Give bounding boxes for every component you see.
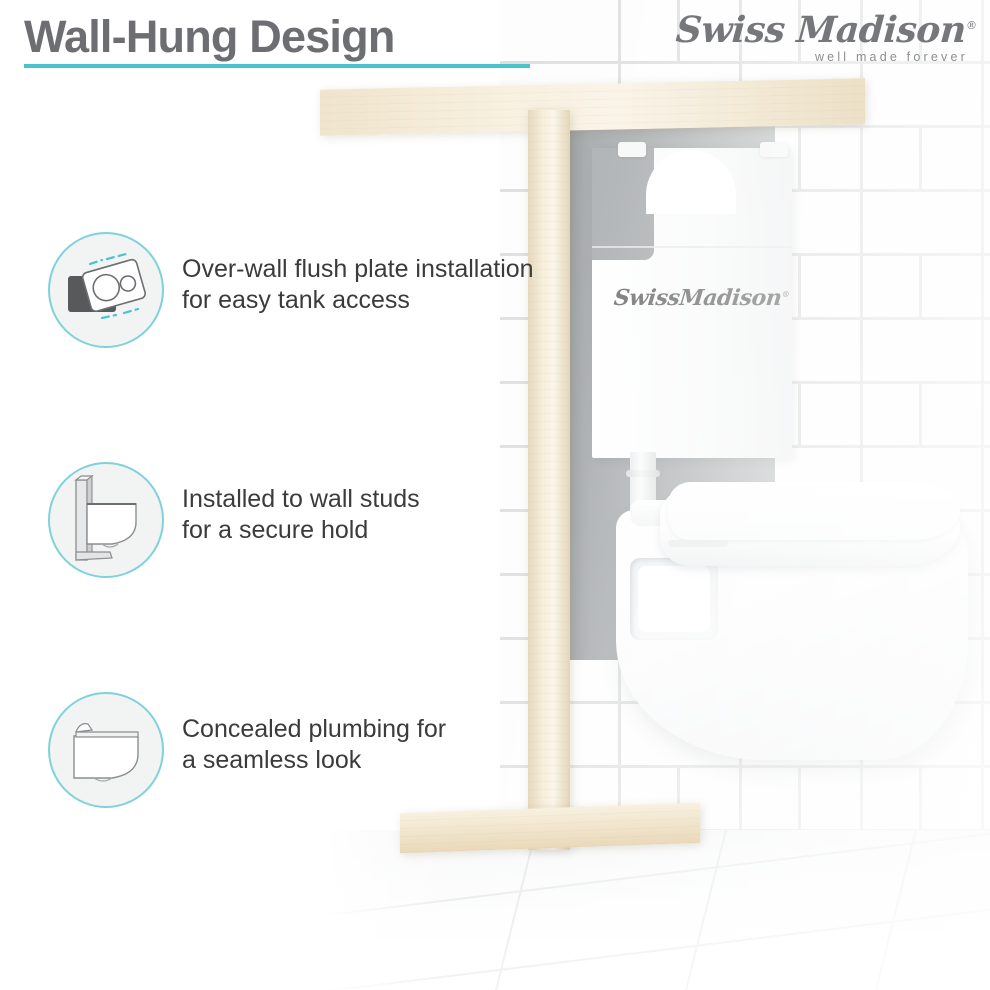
brand-name-text: Swiss Madison (675, 9, 968, 51)
feature-text-2: Installed to wall studs for a secure hol… (182, 484, 420, 545)
flush-plate-install-icon (48, 232, 164, 348)
brand-logo: Swiss Madison® well made forever (676, 12, 972, 74)
registered-trademark-icon: ® (966, 19, 977, 32)
brand-tagline: well made forever (676, 50, 968, 64)
concealed-plumbing-icon (48, 692, 164, 808)
wood-wall-stud (528, 110, 570, 850)
feature-text-1: Over-wall flush plate installation for e… (182, 254, 534, 315)
feature-item-3: Concealed plumbing for a seamless look (48, 692, 446, 808)
page-title: Wall-Hung Design (24, 14, 395, 59)
wall-stud-mount-icon (48, 462, 164, 578)
feature-text-3: Concealed plumbing for a seamless look (182, 714, 446, 775)
feature-item-1: Over-wall flush plate installation for e… (48, 232, 534, 348)
title-underline (24, 64, 530, 68)
brand-name: Swiss Madison® (675, 12, 974, 48)
infographic-page: SwissMadison® Wall- (0, 0, 990, 990)
feature-item-2: Installed to wall studs for a secure hol… (48, 462, 420, 578)
